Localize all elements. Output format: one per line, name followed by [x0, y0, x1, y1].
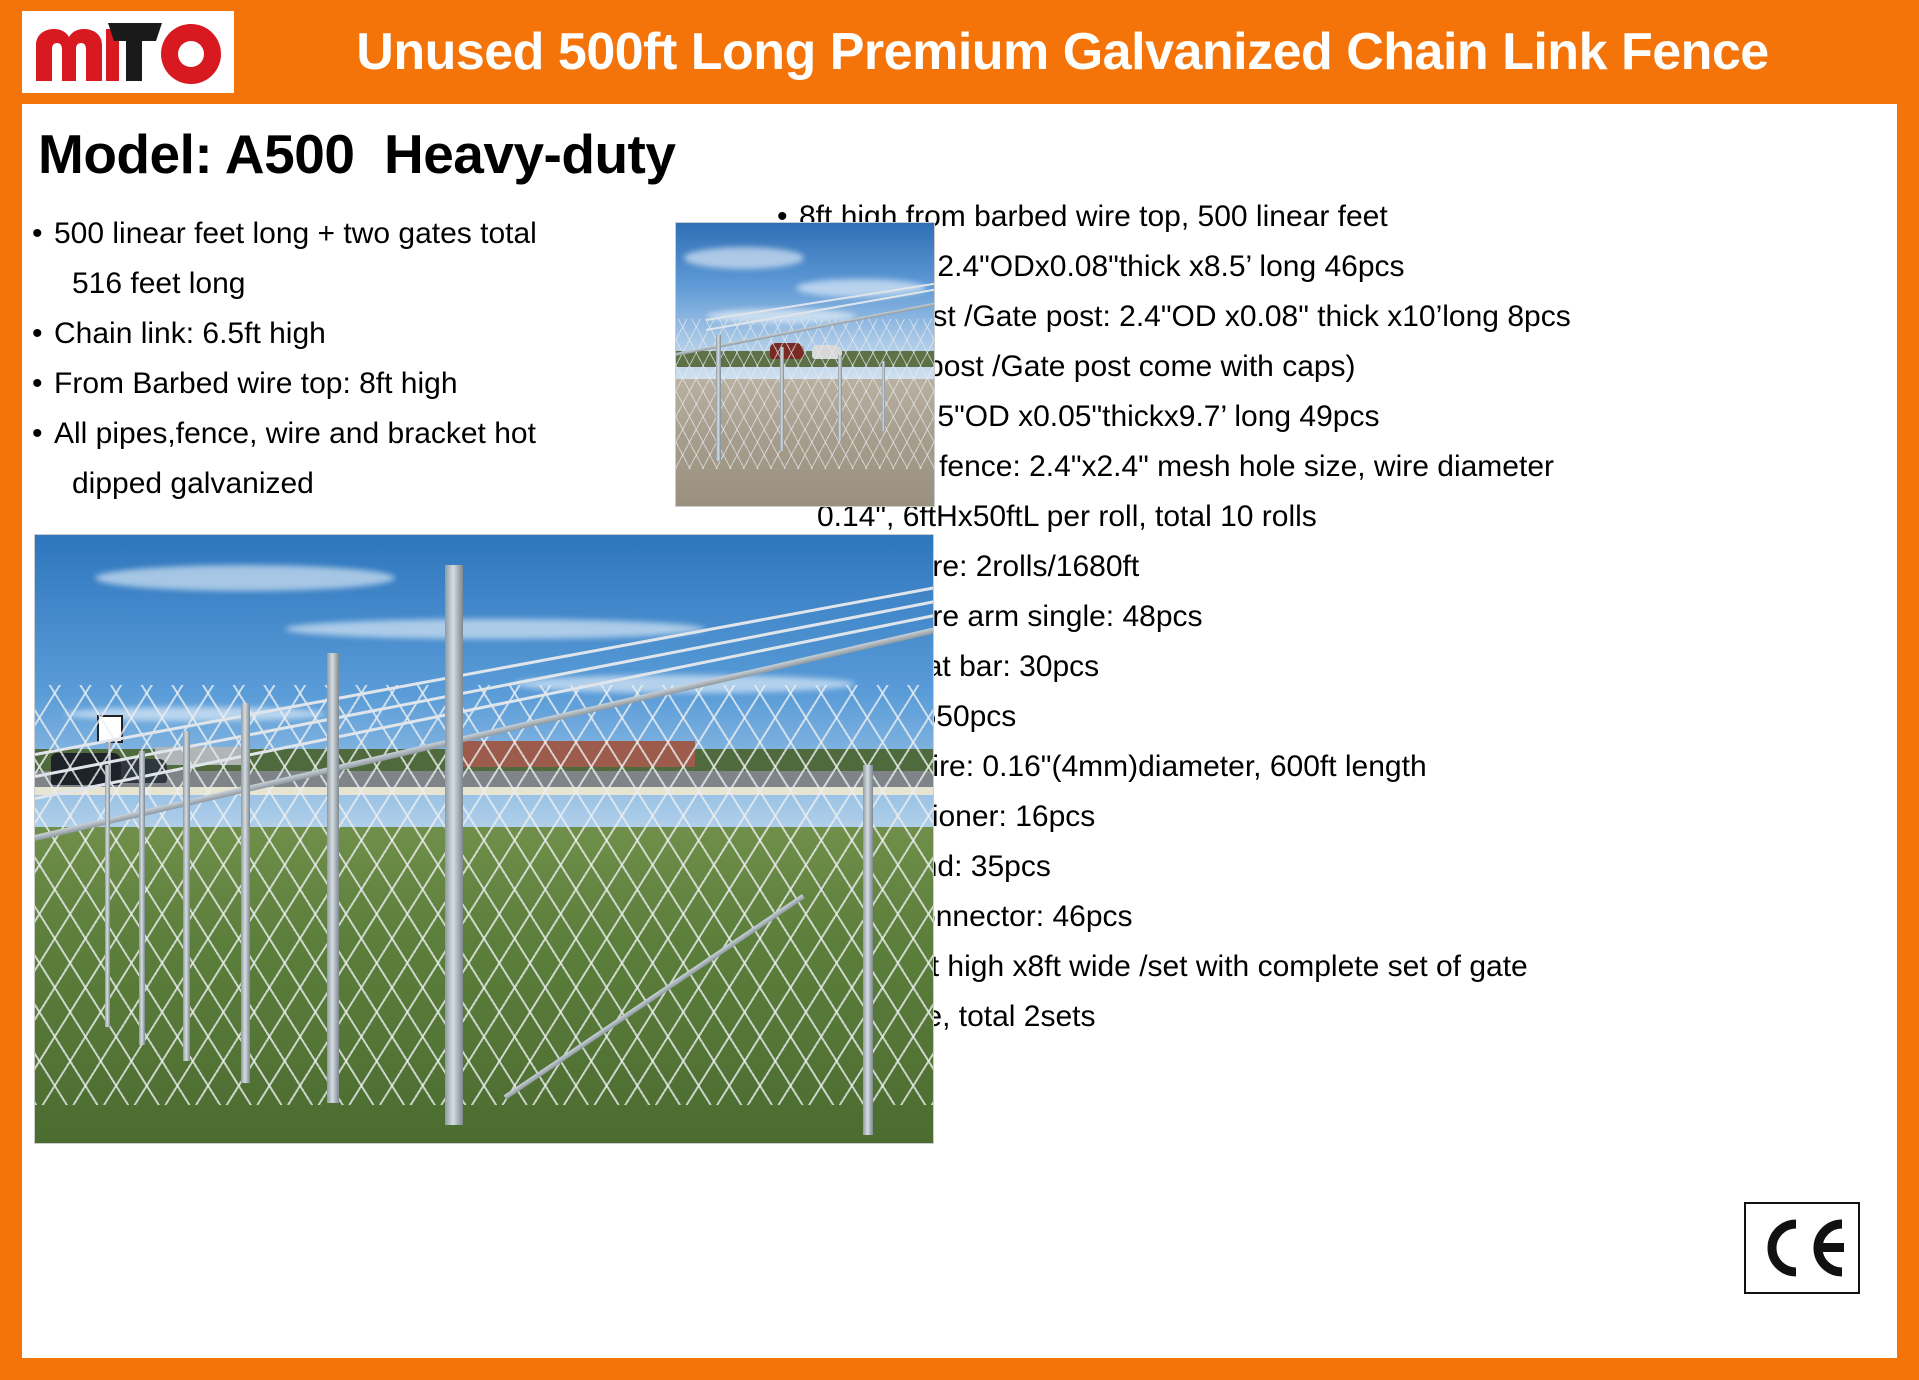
list-item: 8ft high from barbed wire top, 500 linea…	[775, 192, 1887, 242]
mto-logo-icon	[30, 19, 226, 85]
bullet-text: 500 linear feet long + two gates total	[54, 217, 537, 250]
list-item: Barbed wire arm single: 48pcs	[775, 592, 1887, 642]
bullet-continuation: (Corner post /Gate post come with caps)	[799, 342, 1887, 392]
bullet-text: All pipes,fence, wire and bracket hot	[54, 417, 536, 450]
header-title: Unused 500ft Long Premium Galvanized Cha…	[234, 26, 1919, 78]
bullet-continuation: dipped galvanized	[54, 459, 570, 509]
fence-post	[183, 731, 190, 1061]
fence-post	[838, 355, 842, 441]
fence-post	[139, 751, 145, 1045]
list-item: Wire Tensioner: 16pcs	[775, 792, 1887, 842]
list-item: Tie wire: 650pcs	[775, 692, 1887, 742]
fence-photo-gravel	[675, 222, 935, 507]
fence-post	[882, 361, 885, 431]
list-item: Top rail end: 35pcs	[775, 842, 1887, 892]
fence-post	[780, 347, 784, 451]
list-item: Chain link: 6.5ft high	[30, 309, 570, 359]
chain-link-mesh	[676, 319, 934, 469]
left-bullet-list: 500 linear feet long + two gates total 5…	[30, 209, 570, 509]
cloud-shape	[95, 565, 395, 591]
list-item: From Barbed wire top: 8ft high	[30, 359, 570, 409]
product-spec-sheet: Unused 500ft Long Premium Galvanized Cha…	[0, 0, 1919, 1380]
cloud-shape	[285, 619, 705, 639]
left-specs-column: 500 linear feet long + two gates total 5…	[30, 209, 570, 509]
fence-post	[105, 765, 110, 1027]
fence-photo-grass	[34, 534, 934, 1144]
list-item: Corner post /Gate post: 2.4"OD x0.08" th…	[775, 292, 1887, 392]
list-item: All pipes,fence, wire and bracket hot di…	[30, 409, 570, 509]
list-item: Tension flat bar: 30pcs	[775, 642, 1887, 692]
cloud-shape	[684, 247, 804, 269]
fence-post	[445, 565, 463, 1125]
list-item: Top rail: 1.5"OD x0.05"thickx9.7’ long 4…	[775, 392, 1887, 442]
bullet-continuation: 0.14", 6ftHx50ftL per roll, total 10 rol…	[799, 492, 1887, 542]
fence-post	[327, 653, 339, 1103]
list-item: Barbed wire: 2rolls/1680ft	[775, 542, 1887, 592]
bullet-continuation: 516 feet long	[54, 259, 570, 309]
list-item: Top rail connector: 46pcs	[775, 892, 1887, 942]
model-heading: Model: A500 Heavy-duty	[38, 122, 675, 186]
list-item: 500 linear feet long + two gates total 5…	[30, 209, 570, 309]
bullet-continuation: hardware, total 2sets	[799, 992, 1887, 1042]
fence-post	[863, 765, 873, 1135]
list-item: Line post: 2.4"ODx0.08"thick x8.5’ long …	[775, 242, 1887, 292]
ce-mark	[1744, 1202, 1860, 1294]
right-specs-column: 8ft high from barbed wire top, 500 linea…	[775, 192, 1887, 1042]
fence-post	[716, 335, 721, 461]
list-item: Gate: 6.5ft high x8ft wide /set with com…	[775, 942, 1887, 1042]
bullet-text: Chain link: 6.5ft high	[54, 317, 326, 350]
list-item: Tension wire: 0.16"(4mm)diameter, 600ft …	[775, 742, 1887, 792]
content-panel: Model: A500 Heavy-duty 500 linear feet l…	[22, 104, 1897, 1358]
ce-mark-icon	[1756, 1218, 1848, 1278]
header-bar: Unused 500ft Long Premium Galvanized Cha…	[0, 0, 1919, 104]
mto-logo	[22, 11, 234, 93]
bullet-text: From Barbed wire top: 8ft high	[54, 367, 458, 400]
right-bullet-list: 8ft high from barbed wire top, 500 linea…	[775, 192, 1887, 1042]
list-item: Chain link fence: 2.4"x2.4" mesh hole si…	[775, 442, 1887, 542]
fence-post	[241, 703, 250, 1083]
